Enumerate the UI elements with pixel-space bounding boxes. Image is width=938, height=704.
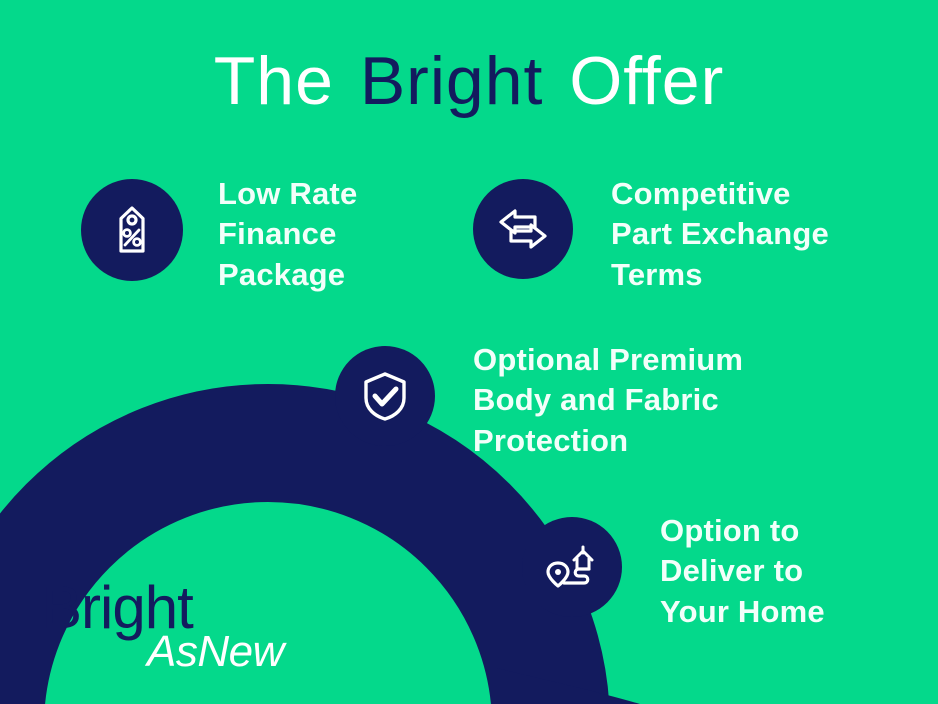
feature-label-part-exchange: Competitive Part Exchange Terms <box>611 174 829 295</box>
logo-secondary-text: AsNew <box>147 630 284 674</box>
shield-check-icon <box>357 368 413 424</box>
icon-badge-part-exchange <box>473 179 573 279</box>
brand-logo: Bright AsNew <box>42 578 302 688</box>
feature-item-part-exchange: Competitive Part Exchange Terms <box>473 179 829 295</box>
feature-label-protection: Optional Premium Body and Fabric Protect… <box>473 340 743 461</box>
promotional-graphic: The Bright Offer Low Rate Finance Packag… <box>0 0 938 704</box>
title-part-two: Offer <box>549 43 724 119</box>
brand-wedge-shape <box>497 668 640 704</box>
feature-item-finance: Low Rate Finance Package <box>81 179 357 295</box>
icon-badge-delivery <box>522 517 622 617</box>
exchange-arrows-icon <box>494 200 552 258</box>
feature-item-protection: Optional Premium Body and Fabric Protect… <box>335 346 743 461</box>
title-brand-word: Bright <box>354 43 550 119</box>
feature-item-delivery: Option to Deliver to Your Home <box>522 517 825 632</box>
icon-badge-protection <box>335 346 435 446</box>
feature-label-delivery: Option to Deliver to Your Home <box>660 511 825 632</box>
icon-badge-finance <box>81 179 183 281</box>
title-part-one: The <box>214 43 354 119</box>
feature-label-finance: Low Rate Finance Package <box>218 174 357 295</box>
price-tag-percent-icon <box>104 202 160 258</box>
page-title: The Bright Offer <box>0 47 938 115</box>
delivery-route-home-icon <box>543 538 601 596</box>
